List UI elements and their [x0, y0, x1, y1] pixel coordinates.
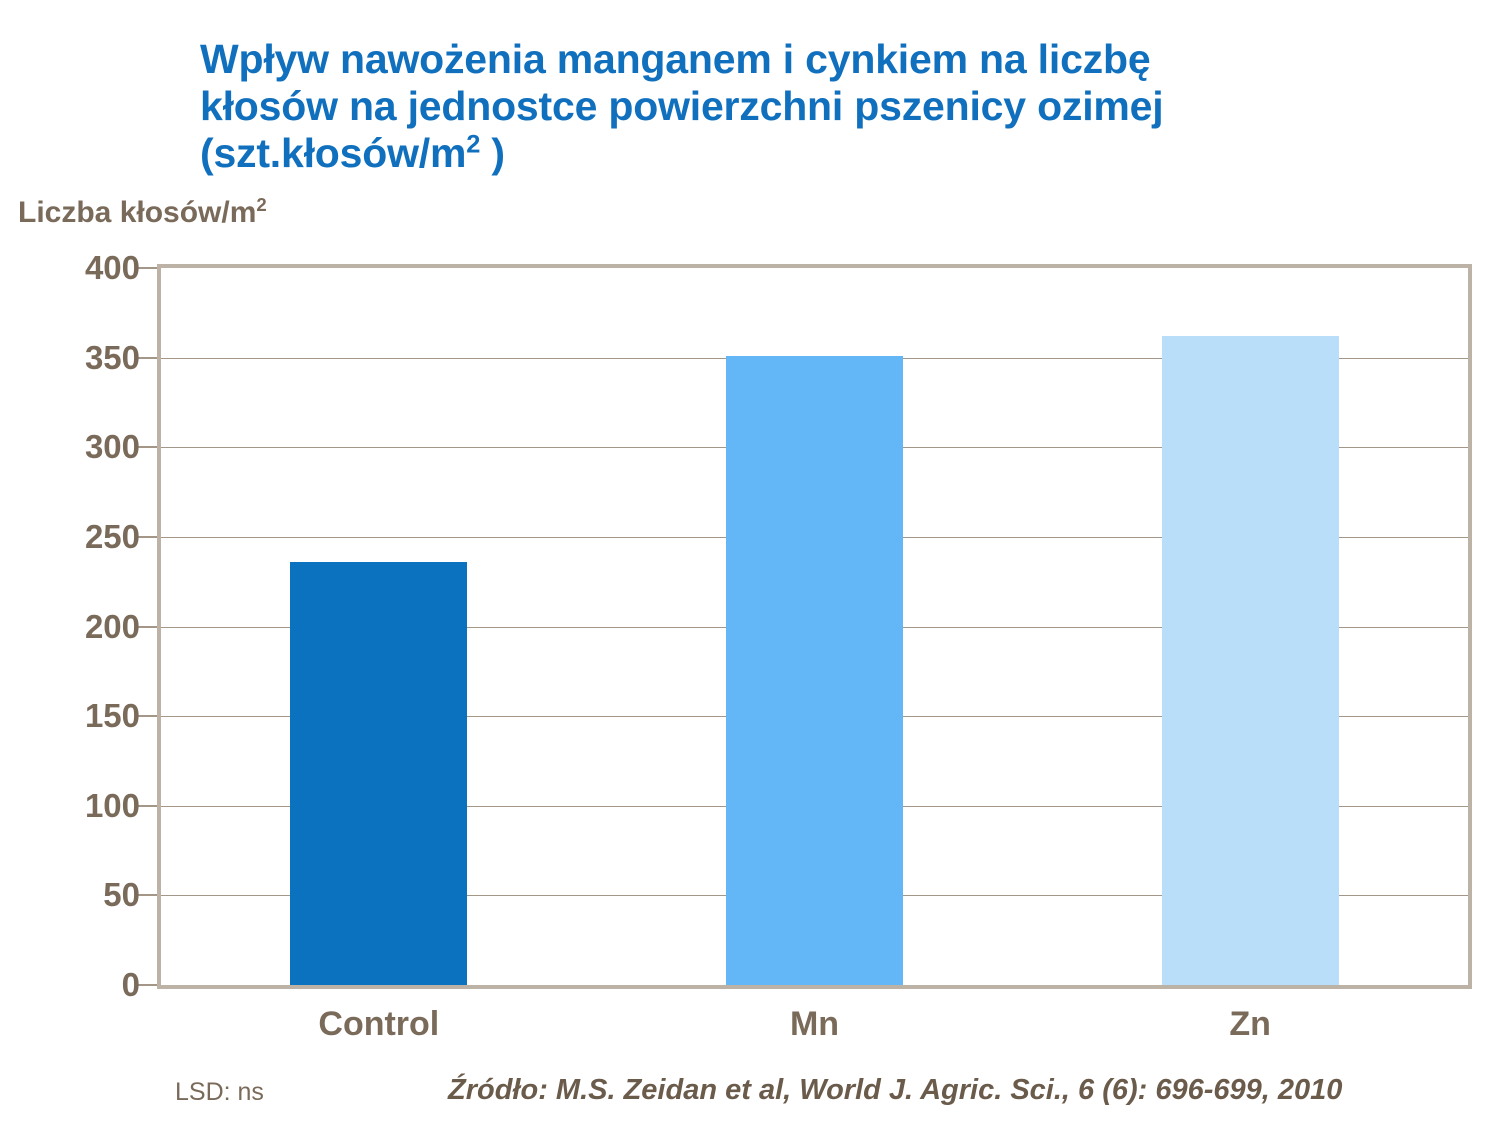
y-axis-tick-label: 150 [20, 697, 140, 735]
y-axis-tick-label: 0 [20, 966, 140, 1004]
title-line-3: (szt.kłosów/m2 ) [200, 130, 1430, 177]
lsd-note: LSD: ns [175, 1078, 264, 1107]
y-axis-tick-mark [138, 715, 157, 717]
title-line-2: kłosów na jednostce powierzchni pszenicy… [200, 83, 1430, 130]
y-axis-tick-mark [138, 805, 157, 807]
y-axis-tick-label: 200 [20, 608, 140, 646]
source-citation: Źródło: M.S. Zeidan et al, World J. Agri… [448, 1074, 1342, 1107]
title-line-3-text: (szt.kłosów/m [200, 130, 466, 176]
title-line-3-suffix: ) [480, 130, 505, 176]
y-axis-tick-mark [138, 267, 157, 269]
y-axis-tick-label: 100 [20, 787, 140, 825]
x-axis-category-mn: Mn [675, 1005, 955, 1044]
y-axis-tick-mark [138, 536, 157, 538]
y-axis-tick-label: 400 [20, 249, 140, 287]
x-axis-category-control: Control [239, 1005, 519, 1044]
bar-zn[interactable] [1162, 336, 1339, 985]
title-superscript: 2 [466, 130, 480, 158]
y-axis-title: Liczba kłosów/m2 [18, 196, 267, 230]
y-axis-title-text: Liczba kłosów/m [18, 196, 256, 229]
plot-inner [161, 268, 1468, 985]
page-title: Wpływ nawożenia manganem i cynkiem na li… [200, 36, 1430, 177]
y-axis-tick-label: 300 [20, 428, 140, 466]
y-axis-tick-mark [138, 446, 157, 448]
title-line-1: Wpływ nawożenia manganem i cynkiem na li… [200, 36, 1430, 83]
bar-mn[interactable] [726, 356, 903, 985]
y-axis-tick-label: 250 [20, 518, 140, 556]
y-axis-title-superscript: 2 [256, 194, 266, 215]
y-axis-tick-mark [138, 357, 157, 359]
y-axis-tick-mark [138, 626, 157, 628]
bar-control[interactable] [290, 562, 467, 985]
y-axis-tick-mark [138, 984, 157, 986]
y-axis-tick-mark [138, 894, 157, 896]
plot-area [157, 264, 1472, 989]
y-axis-tick-label: 50 [20, 876, 140, 914]
y-axis-tick-label: 350 [20, 339, 140, 377]
x-axis-category-zn: Zn [1110, 1005, 1390, 1044]
